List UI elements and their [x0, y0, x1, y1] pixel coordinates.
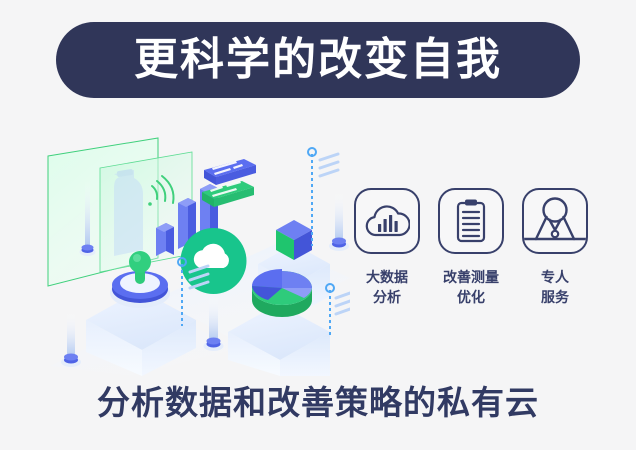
infographic-banner: 更科学的改变自我 [0, 0, 636, 450]
cloud-bar-chart-icon [354, 188, 420, 254]
isometric-data-platform-illustration [40, 126, 350, 376]
feature-list: 大数据 分析 改善测量 [352, 188, 590, 338]
clipboard-icon [438, 188, 504, 254]
support-agent-icon [522, 188, 588, 254]
feature-label-measurement-optimization: 改善测量 优化 [443, 267, 499, 308]
feature-item-big-data-analysis[interactable]: 大数据 分析 [352, 188, 422, 338]
bottle-silhouette [114, 169, 143, 256]
feature-label-line1: 专人 [541, 267, 569, 287]
feature-label-line2: 优化 [443, 287, 499, 307]
feature-label-big-data-analysis: 大数据 分析 [366, 267, 408, 308]
footer-caption: 分析数据和改善策略的私有云 [0, 386, 636, 419]
blue-label-card [204, 159, 256, 185]
feature-label-dedicated-service: 专人 服务 [541, 267, 569, 308]
page-title: 更科学的改变自我 [134, 38, 502, 82]
dashed-connector-pin-bottom-right [326, 284, 350, 336]
pie-chart-3d [252, 269, 312, 317]
header-banner-pill: 更科学的改变自我 [56, 22, 580, 98]
feature-label-line1: 改善测量 [443, 267, 499, 287]
feature-label-line2: 分析 [366, 287, 408, 307]
feature-item-measurement-optimization[interactable]: 改善测量 优化 [436, 188, 506, 338]
feature-label-line2: 服务 [541, 287, 569, 307]
dashed-connector-pin-top-right [308, 148, 338, 246]
pin-right-tall [329, 192, 349, 251]
feature-item-dedicated-service[interactable]: 专人 服务 [520, 188, 590, 338]
pin-bottom-left [61, 312, 81, 367]
feature-label-line1: 大数据 [366, 267, 408, 287]
